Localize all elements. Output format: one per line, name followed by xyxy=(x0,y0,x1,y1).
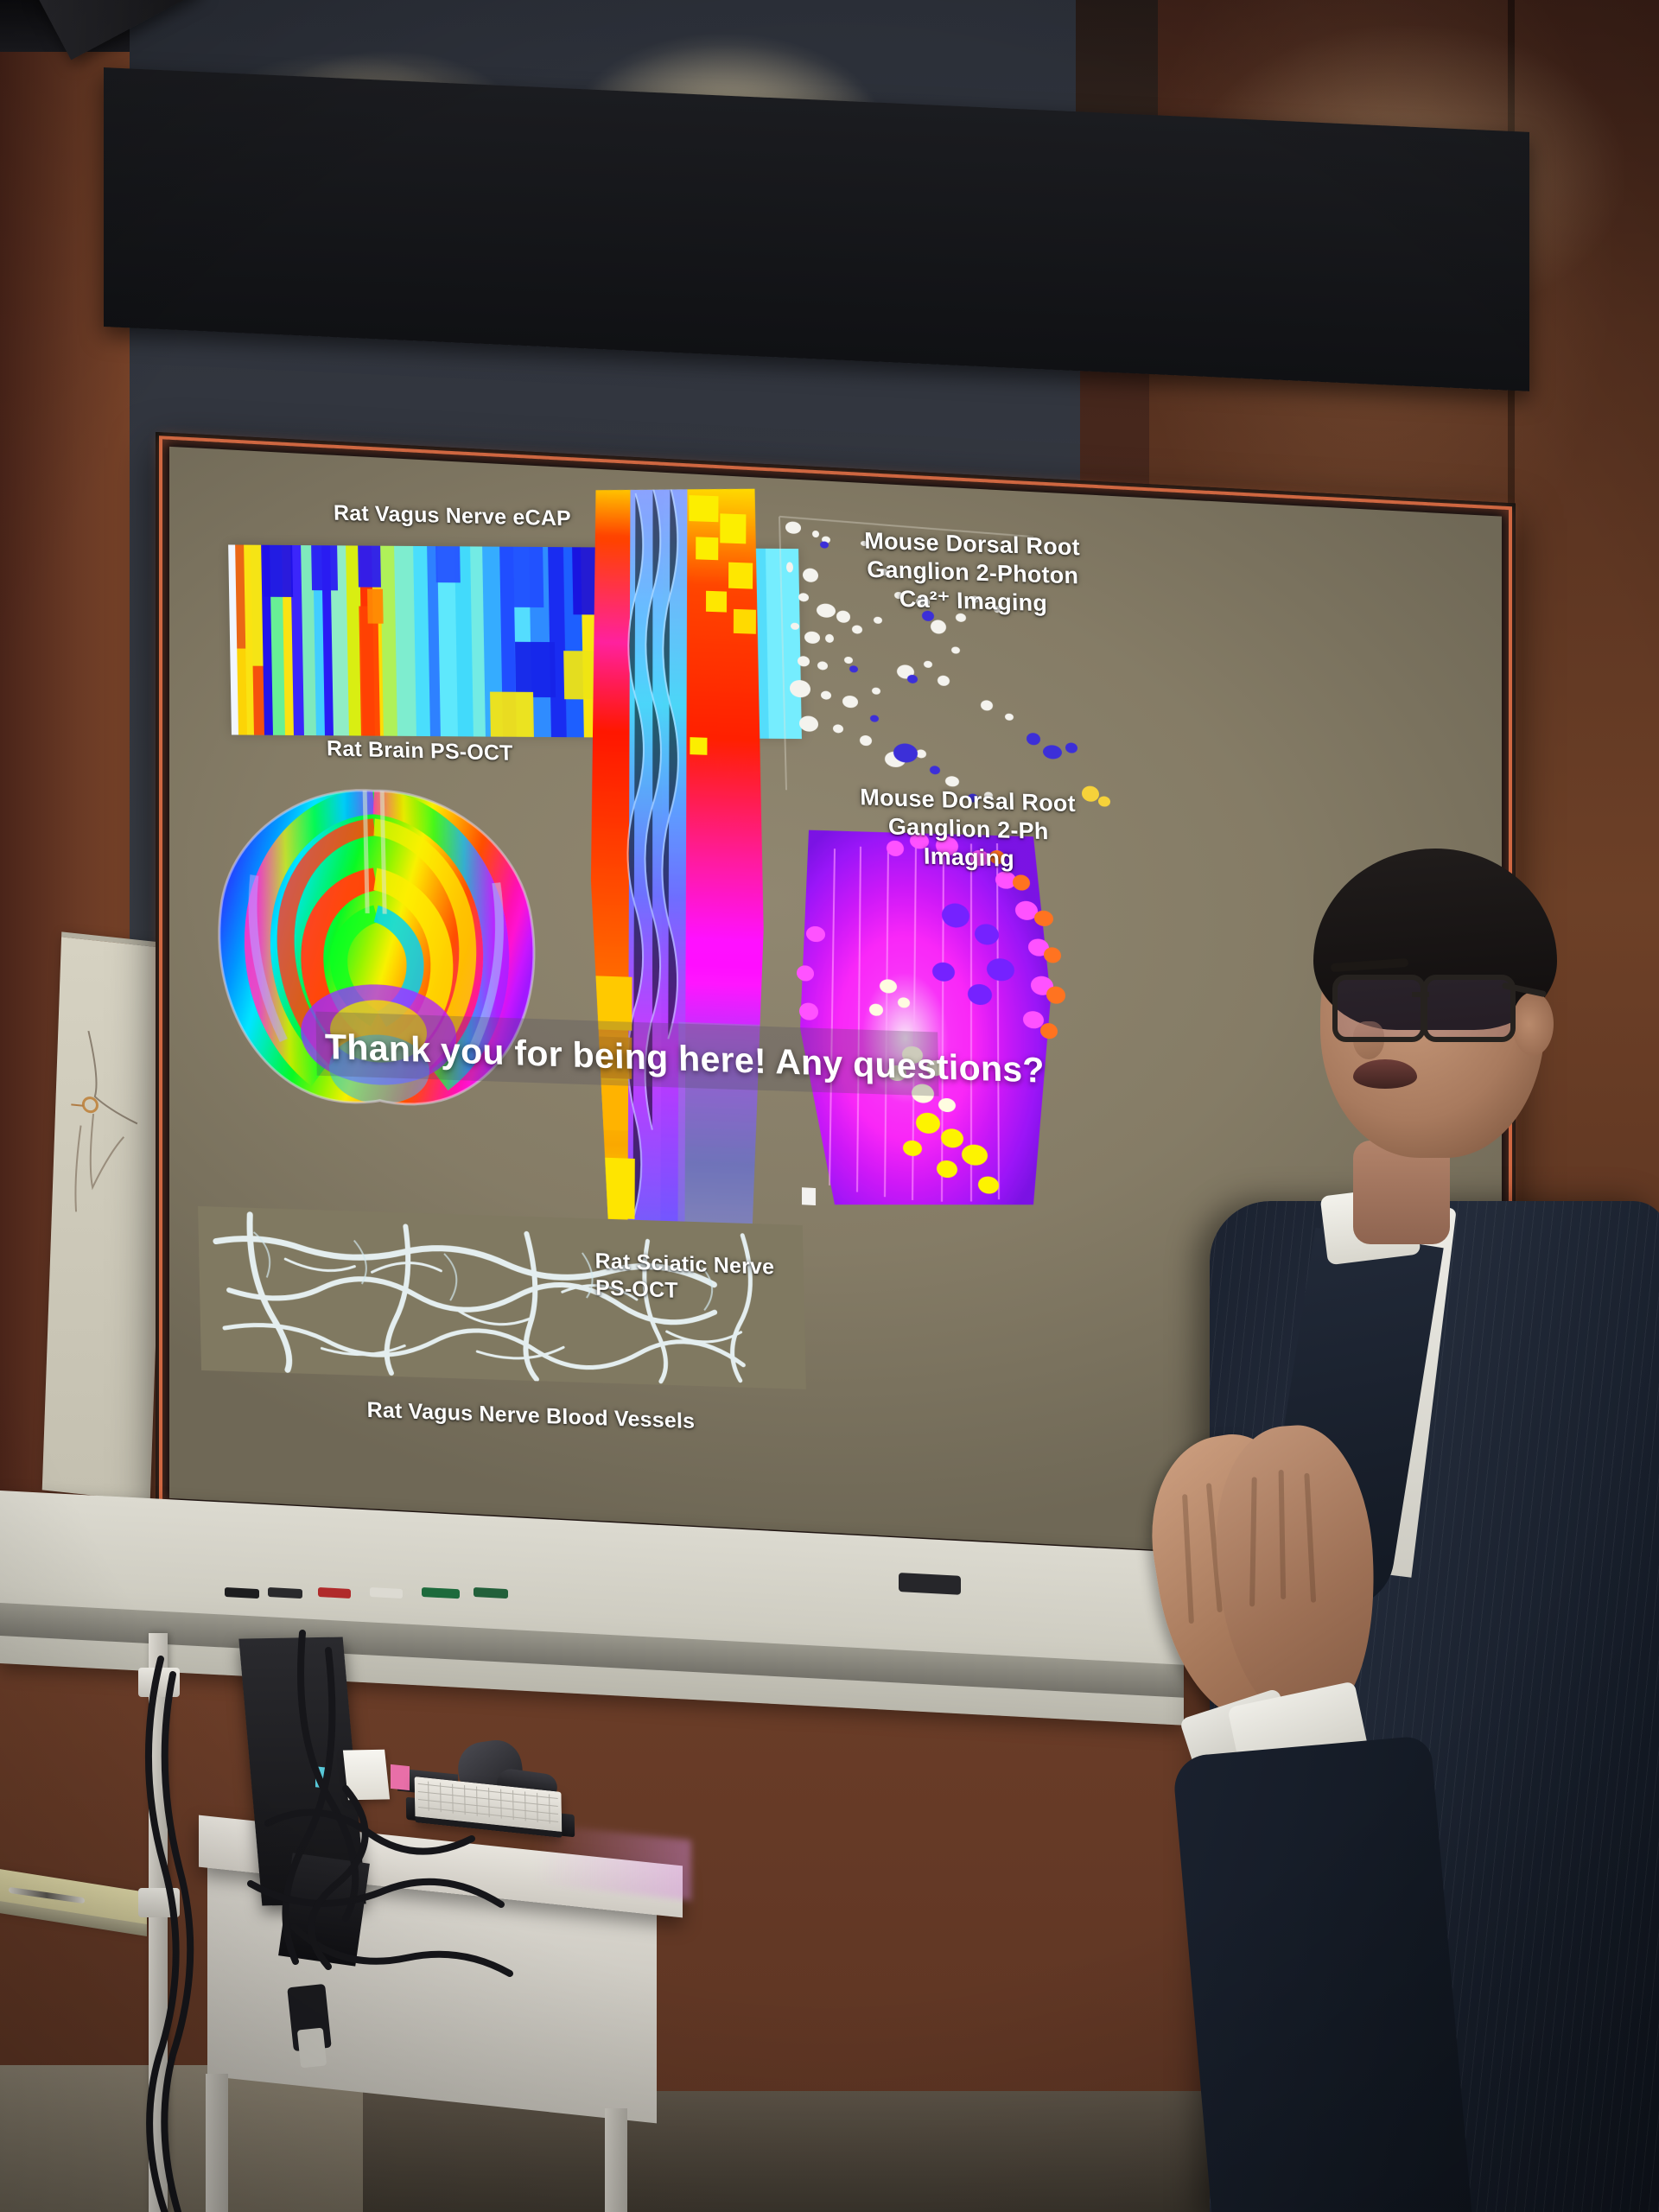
label-rat-sciatic-psoct: Rat Sciatic Nerve PS-OCT xyxy=(594,1249,793,1568)
label-rat-vagus-ecap: Rat Vagus Nerve eCAP xyxy=(334,500,572,532)
marker-icon xyxy=(474,1587,508,1599)
presenter xyxy=(1184,829,1659,2212)
marker-icon xyxy=(318,1587,351,1599)
presenter-sleeve xyxy=(1172,1735,1472,2212)
marker-icon xyxy=(370,1587,403,1599)
glasses-bridge xyxy=(1412,992,1429,997)
conference-room-photo: Rat Vagus Nerve eCAP Rat Brain PS-OCT xyxy=(0,0,1659,2212)
presenter-mouth xyxy=(1353,1059,1417,1089)
panel-rat-sciatic-psoct xyxy=(582,474,771,1242)
glasses-icon xyxy=(1332,975,1426,1042)
eraser-icon xyxy=(899,1573,961,1595)
sciatic-psoct-icon xyxy=(582,474,771,1242)
marker-icon xyxy=(268,1587,302,1599)
label-rat-brain-psoct: Rat Brain PS-OCT xyxy=(327,735,513,766)
marker-icon xyxy=(422,1587,460,1599)
label-drg-two-photon-ca: Mouse Dorsal Root Ganglion 2-Photon Ca²⁺… xyxy=(864,527,1081,620)
label-drg-two-photon: Mouse Dorsal Root Ganglion 2-Ph Imaging xyxy=(860,783,1077,875)
flipchart-board xyxy=(42,931,170,1501)
flipchart-sketch-icon xyxy=(42,937,169,1501)
cable-bundle xyxy=(121,1624,657,2212)
marker-icon xyxy=(225,1587,259,1599)
presenter-ear xyxy=(1512,992,1554,1056)
